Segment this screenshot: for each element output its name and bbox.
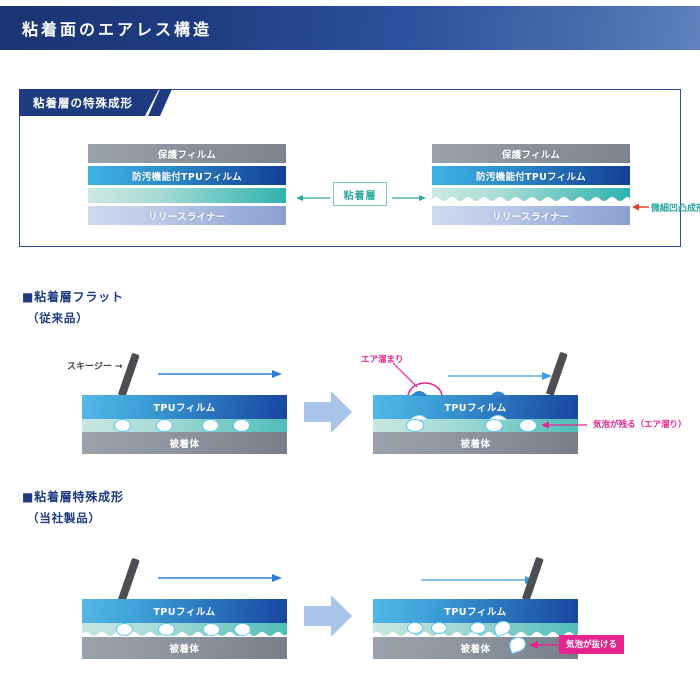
layer-release-liner: リリースライナー — [88, 206, 286, 225]
substrate-block: 被着体 — [82, 432, 287, 454]
air-bubble — [203, 623, 220, 636]
bubble-remain-arrow — [540, 420, 588, 430]
layer-release-liner: リリースライナー — [432, 206, 630, 225]
substrate-label: 被着体 — [460, 436, 490, 450]
layer-label: 防汚機能付TPUフィルム — [132, 169, 242, 183]
air-bubble — [519, 419, 537, 432]
process-arrow — [304, 391, 352, 433]
page-header: 粘着面のエアレス構造 — [0, 6, 700, 50]
adhesive-layer-callout-box: 粘着層 — [333, 182, 387, 206]
squeegee-label: スキージー → — [67, 359, 123, 372]
squeegee-icon — [118, 558, 140, 602]
adhesive-block — [82, 419, 287, 432]
layer-label: 保護フィルム — [502, 147, 560, 161]
panel-tab-label: 粘着層の特殊成形 — [19, 89, 159, 116]
tpu-film-block: TPUフィルム — [82, 395, 287, 419]
layer-adhesive-textured — [432, 188, 630, 203]
layer-protective-film: 保護フィルム — [88, 144, 286, 163]
tpu-film-label: TPUフィルム — [153, 400, 215, 414]
air-bubble — [202, 419, 219, 432]
layer-label: 防汚機能付TPUフィルム — [476, 169, 586, 183]
layer-label: 保護フィルム — [158, 147, 216, 161]
tpu-film-block: TPUフィルム — [82, 599, 287, 623]
texture-callout-arrow — [632, 202, 650, 212]
texture-callout-label: 微細凹凸成形 — [651, 201, 700, 214]
arrow-box-to-right — [392, 193, 428, 203]
air-bubble — [431, 622, 447, 634]
tpu-film-label: TPUフィルム — [153, 604, 215, 618]
layer-label: リリースライナー — [492, 209, 570, 223]
flat-before-diagram: スキージー → TPUフィルム 被着体 — [82, 355, 287, 445]
process-arrow — [304, 595, 352, 637]
adhesive-block-textured — [82, 623, 287, 637]
section-textured-subheading: （当社製品） — [27, 510, 101, 526]
adhesive-layer-callout-label: 粘着層 — [344, 187, 377, 202]
substrate-label: 被着体 — [169, 436, 199, 450]
air-bubble — [158, 623, 175, 636]
layer-stack-flat: 保護フィルム 防汚機能付TPUフィルム リリースライナー — [88, 144, 286, 225]
layer-tpu-film: 防汚機能付TPUフィルム — [432, 166, 630, 185]
air-bubble — [116, 623, 133, 636]
direction-arrow — [448, 371, 553, 381]
layer-protective-film: 保護フィルム — [432, 144, 630, 163]
surface-bumps — [373, 387, 578, 397]
substrate-block: 被着体 — [82, 637, 287, 659]
direction-arrow — [158, 369, 283, 379]
section-textured-heading: ■粘着層特殊成形 — [22, 488, 124, 505]
direction-arrow — [158, 573, 283, 583]
layer-tpu-film: 防汚機能付TPUフィルム — [88, 166, 286, 185]
substrate-block: 被着体 — [373, 432, 578, 454]
air-bubble — [114, 419, 131, 432]
section-flat-subheading: （従来品） — [27, 310, 89, 326]
flat-after-diagram: エア溜まり TPUフィルム 被着体 気泡が残る（エア溜り） — [373, 355, 578, 445]
page-title: 粘着面のエアレス構造 — [0, 16, 212, 40]
substrate-label: 被着体 — [460, 641, 490, 655]
air-bubble — [234, 623, 251, 636]
air-bubble — [406, 419, 424, 432]
tpu-film-block: TPUフィルム — [373, 599, 578, 623]
substrate-label: 被着体 — [169, 641, 199, 655]
direction-arrow — [421, 575, 536, 585]
air-bubble — [233, 419, 250, 432]
bubble-escape-arrow — [528, 640, 560, 650]
bubble-remain-label: 気泡が残る（エア溜り） — [593, 418, 687, 430]
layer-adhesive-flat — [88, 188, 286, 203]
textured-after-diagram: TPUフィルム 被着体 気泡が抜ける — [373, 557, 578, 647]
tpu-film-label: TPUフィルム — [444, 604, 506, 618]
section-flat-heading: ■粘着層フラット — [22, 288, 124, 305]
bubble-escape-label: 気泡が抜ける — [559, 635, 624, 654]
air-bubble — [485, 419, 503, 432]
arrow-left-to-box — [296, 193, 332, 203]
micro-texture-wave — [432, 195, 630, 204]
layer-label: リリースライナー — [148, 209, 226, 223]
air-bubble — [156, 419, 173, 432]
air-bubble — [407, 622, 423, 634]
air-bubble — [470, 622, 486, 634]
textured-before-diagram: TPUフィルム 被着体 — [82, 557, 287, 647]
adhesive-structure-panel: 粘着層の特殊成形 保護フィルム 防汚機能付TPUフィルム リリースライナー 粘着… — [19, 89, 681, 247]
layer-stack-textured: 保護フィルム 防汚機能付TPUフィルム リリースライナー — [432, 144, 630, 225]
